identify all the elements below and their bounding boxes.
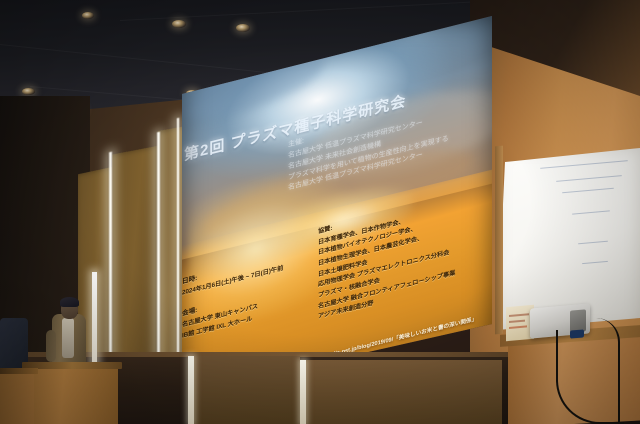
power-cable bbox=[596, 318, 620, 422]
second-podium-surface bbox=[0, 368, 38, 374]
stage-panel bbox=[306, 360, 502, 424]
cable-connector bbox=[570, 329, 584, 338]
window-light-gap bbox=[156, 132, 161, 377]
window-light-gap bbox=[176, 118, 180, 371]
lecture-hall-photo: 2024年1月6日 第2回 プラズマ種子科学研究会 主催: 名古屋大学 低温プラ… bbox=[0, 0, 640, 424]
stage-light-gap bbox=[188, 356, 194, 424]
downlight-icon bbox=[22, 88, 35, 95]
downlight-icon bbox=[82, 12, 94, 19]
downlight-icon bbox=[172, 20, 186, 28]
second-podium[interactable] bbox=[0, 372, 34, 424]
speaker-hair bbox=[60, 297, 79, 307]
speaker-shirt bbox=[62, 318, 74, 358]
podium[interactable] bbox=[26, 366, 118, 424]
speaker-arm bbox=[46, 330, 56, 362]
wall-light-slit bbox=[92, 272, 97, 376]
downlight-icon bbox=[236, 24, 250, 32]
stage-panel bbox=[194, 356, 300, 424]
stage-light-gap bbox=[300, 360, 306, 424]
whiteboard-frame bbox=[495, 146, 503, 335]
window-light-gap bbox=[108, 152, 113, 381]
